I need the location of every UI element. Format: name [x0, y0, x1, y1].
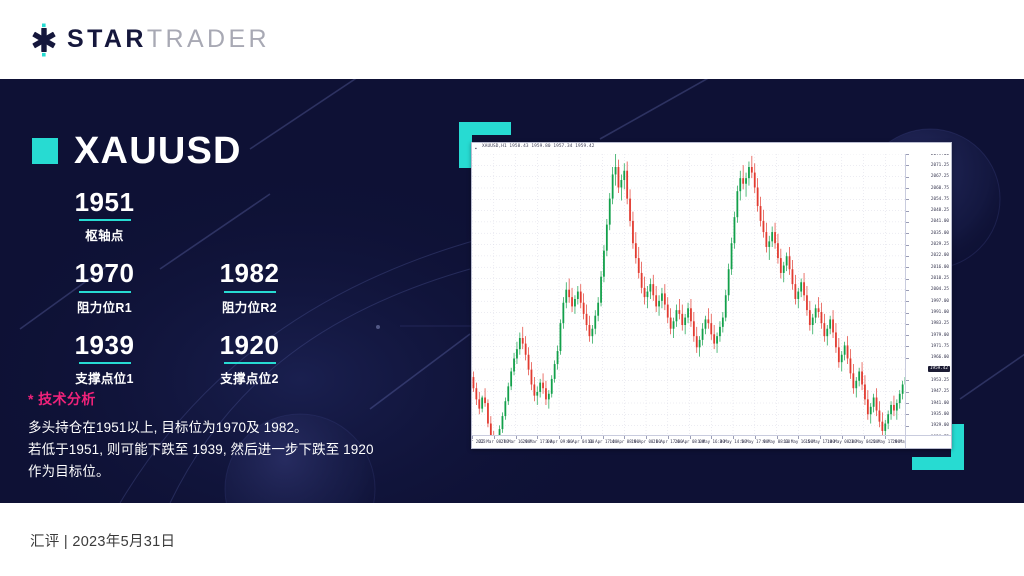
y-tick-mark	[906, 392, 909, 393]
current-price-arrow-icon	[905, 366, 906, 372]
page-title: XAUUSD	[74, 132, 242, 170]
y-tick-label: 2054.75	[931, 197, 949, 202]
y-tick-mark	[906, 256, 909, 257]
y-tick-label: 2035.00	[931, 231, 949, 236]
y-tick-mark	[906, 188, 909, 189]
y-tick-label: 2048.25	[931, 208, 949, 213]
analysis-line-3: 作为目标位。	[28, 461, 428, 483]
y-tick-label: 1953.25	[931, 378, 949, 383]
level-value: 1982	[177, 260, 322, 287]
y-tick-label: 2067.25	[931, 174, 949, 179]
y-tick-mark	[906, 177, 909, 178]
level-label: 支撑点位1	[32, 368, 177, 387]
y-tick-label: 1979.00	[931, 333, 949, 338]
y-tick-label: 1947.25	[931, 389, 949, 394]
y-tick-mark	[906, 279, 909, 280]
chart-body: 2079.002071.252067.252060.752054.752048.…	[472, 154, 951, 448]
y-tick-label: 2079.00	[931, 154, 949, 157]
price-levels: 1951 枢轴点 1970 阻力位R1 1982 阻力位R2 1939 支撑点位…	[32, 189, 352, 387]
level-value: 1920	[177, 332, 322, 359]
level-resistance-2: 1982 阻力位R2	[177, 260, 322, 315]
level-value: 1951	[32, 189, 177, 216]
y-tick-label: 1941.00	[931, 401, 949, 406]
brand-logo[interactable]: STARTRADER	[27, 23, 270, 57]
y-tick-mark	[906, 222, 909, 223]
y-tick-mark	[906, 233, 909, 234]
y-tick-label: 2022.00	[931, 253, 949, 258]
level-underline	[79, 362, 131, 364]
level-label: 支撑点位2	[177, 368, 322, 387]
chart-collapse-icon[interactable]: ▪	[475, 147, 479, 151]
chart-header-bar: ▪ XAUUSD,H1 1958.43 1959.80 1957.34 1959…	[472, 143, 951, 154]
y-tick-mark	[906, 199, 909, 200]
y-tick-mark	[906, 290, 909, 291]
analysis-line-1: 多头持仓在1951以上, 目标位为1970及 1982。	[28, 417, 428, 439]
level-resistance-1: 1970 阻力位R1	[32, 260, 177, 315]
y-tick-label: 1966.00	[931, 355, 949, 360]
y-tick-label: 1971.75	[931, 344, 949, 349]
y-tick-mark	[906, 358, 909, 359]
level-underline	[224, 291, 276, 293]
y-tick-label: 1929.00	[931, 423, 949, 428]
chart-plot-area[interactable]	[472, 154, 905, 435]
y-tick-label: 2010.25	[931, 276, 949, 281]
y-tick-label: 2016.00	[931, 265, 949, 270]
price-chart[interactable]: ▪ XAUUSD,H1 1958.43 1959.80 1957.34 1959…	[471, 142, 952, 449]
y-tick-mark	[906, 403, 909, 404]
level-underline	[79, 219, 131, 221]
level-underline	[224, 362, 276, 364]
technical-analysis-block: * 技术分析 多头持仓在1951以上, 目标位为1970及 1982。 若低于1…	[28, 389, 428, 483]
y-tick-mark	[906, 154, 909, 155]
y-tick-mark	[906, 313, 909, 314]
y-tick-mark	[906, 426, 909, 427]
y-tick-mark	[906, 245, 909, 246]
analysis-body: 多头持仓在1951以上, 目标位为1970及 1982。 若低于1951, 则可…	[28, 417, 428, 483]
level-label: 枢轴点	[32, 225, 177, 244]
x-tick-label: 29 May 16:00	[892, 439, 905, 444]
logo-text-star: STAR	[67, 25, 147, 53]
y-tick-mark	[906, 346, 909, 347]
y-tick-label: 1983.25	[931, 321, 949, 326]
chart-axis-corner	[905, 435, 951, 448]
page-footer: 汇评 | 2023年5月31日	[0, 503, 1024, 576]
y-tick-label: 2071.25	[931, 163, 949, 168]
analysis-line-2: 若低于1951, 则可能下跌至 1939, 然后进一步下跌至 1920	[28, 439, 428, 461]
instrument-title-row: XAUUSD	[32, 132, 242, 170]
y-tick-label: 2029.25	[931, 242, 949, 247]
y-tick-mark	[906, 267, 909, 268]
title-bullet-square	[32, 138, 58, 164]
chart-ohlc-title: XAUUSD,H1 1958.43 1959.80 1957.34 1959.4…	[482, 144, 594, 149]
level-pivot: 1951 枢轴点	[32, 189, 177, 244]
y-tick-mark	[906, 165, 909, 166]
level-label: 阻力位R2	[177, 297, 322, 316]
y-tick-mark	[906, 414, 909, 415]
y-tick-label: 1935.00	[931, 412, 949, 417]
page-header: STARTRADER	[0, 0, 1024, 79]
level-label: 阻力位R1	[32, 297, 177, 316]
content-stage: XAUUSD 1951 枢轴点 1970 阻力位R1 1982 阻力位R2	[0, 79, 1024, 503]
level-support-2: 1920 支撑点位2	[177, 332, 322, 387]
current-price-label: 1959.42	[928, 366, 950, 372]
level-support-1: 1939 支撑点位1	[32, 332, 177, 387]
level-value: 1939	[32, 332, 177, 359]
analysis-heading: * 技术分析	[28, 389, 428, 409]
y-tick-mark	[906, 211, 909, 212]
footer-caption: 汇评 | 2023年5月31日	[30, 530, 175, 551]
level-value: 1970	[32, 260, 177, 287]
chart-x-axis[interactable]: 17 Mar 202322 Mar 08:0027 Mar 16:0029 Ma…	[472, 435, 905, 448]
y-tick-mark	[906, 301, 909, 302]
logo-text-trader: TRADER	[147, 25, 270, 53]
y-tick-mark	[906, 380, 909, 381]
y-tick-label: 2004.25	[931, 287, 949, 292]
y-tick-label: 1997.00	[931, 299, 949, 304]
y-tick-mark	[906, 324, 909, 325]
candlestick-series	[472, 154, 905, 435]
y-tick-mark	[906, 335, 909, 336]
asterisk-star-icon	[27, 23, 61, 57]
y-tick-label: 2060.75	[931, 186, 949, 191]
level-underline	[79, 291, 131, 293]
chart-y-axis[interactable]: 2079.002071.252067.252060.752054.752048.…	[905, 154, 951, 435]
y-tick-label: 1991.00	[931, 310, 949, 315]
y-tick-label: 2041.00	[931, 219, 949, 224]
